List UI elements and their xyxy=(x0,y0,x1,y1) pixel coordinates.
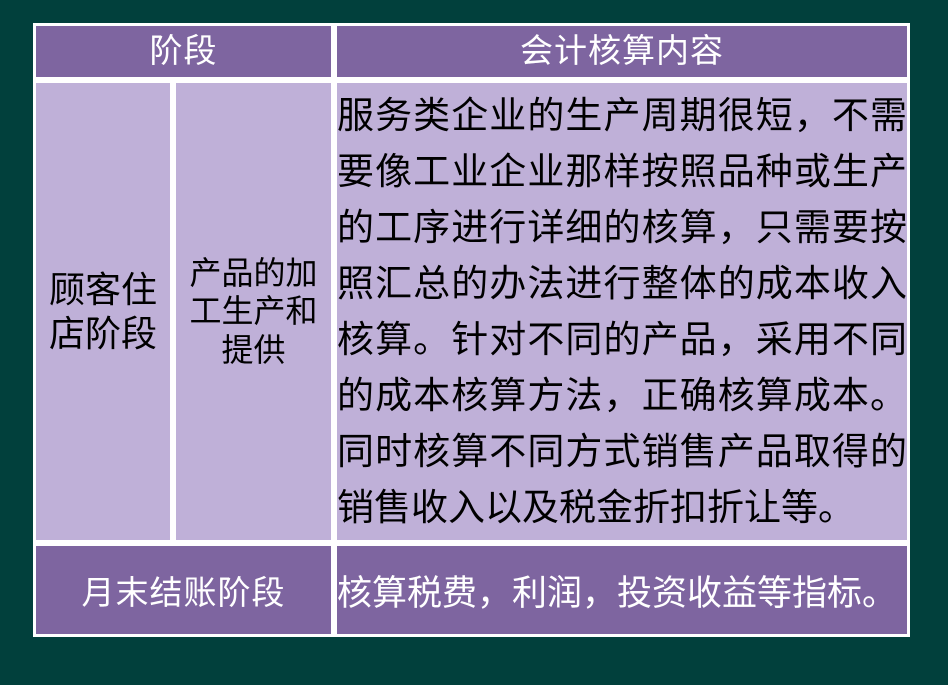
cell-stage-month-end-closing: 月末结账阶段 xyxy=(33,543,334,637)
cell-content-customer-stay: 服务类企业的生产周期很短，不需要像工业企业那样按照品种或生产的工序进行详细的核算… xyxy=(334,80,910,543)
table-row: 顾客住店阶段 产品的加工生产和提供 服务类企业的生产周期很短，不需要像工业企业那… xyxy=(33,80,910,543)
header-cell-stage: 阶段 xyxy=(33,23,334,80)
cell-content-month-end-closing: 核算税费，利润，投资收益等指标。 xyxy=(334,543,910,637)
content-paragraph: 服务类企业的生产周期很短，不需要像工业企业那样按照品种或生产的工序进行详细的核算… xyxy=(337,88,907,536)
table-row: 月末结账阶段 核算税费，利润，投资收益等指标。 xyxy=(33,543,910,637)
cell-topic-product-processing: 产品的加工生产和提供 xyxy=(173,80,334,543)
cell-stage-customer-stay: 顾客住店阶段 xyxy=(33,80,173,543)
header-cell-accounting-content: 会计核算内容 xyxy=(334,23,910,80)
accounting-stages-table: 阶段 会计核算内容 顾客住店阶段 产品的加工生产和提供 服务类企业的生产周期很短… xyxy=(33,23,910,637)
slide-canvas: 阶段 会计核算内容 顾客住店阶段 产品的加工生产和提供 服务类企业的生产周期很短… xyxy=(0,0,948,685)
table-header-row: 阶段 会计核算内容 xyxy=(33,23,910,80)
